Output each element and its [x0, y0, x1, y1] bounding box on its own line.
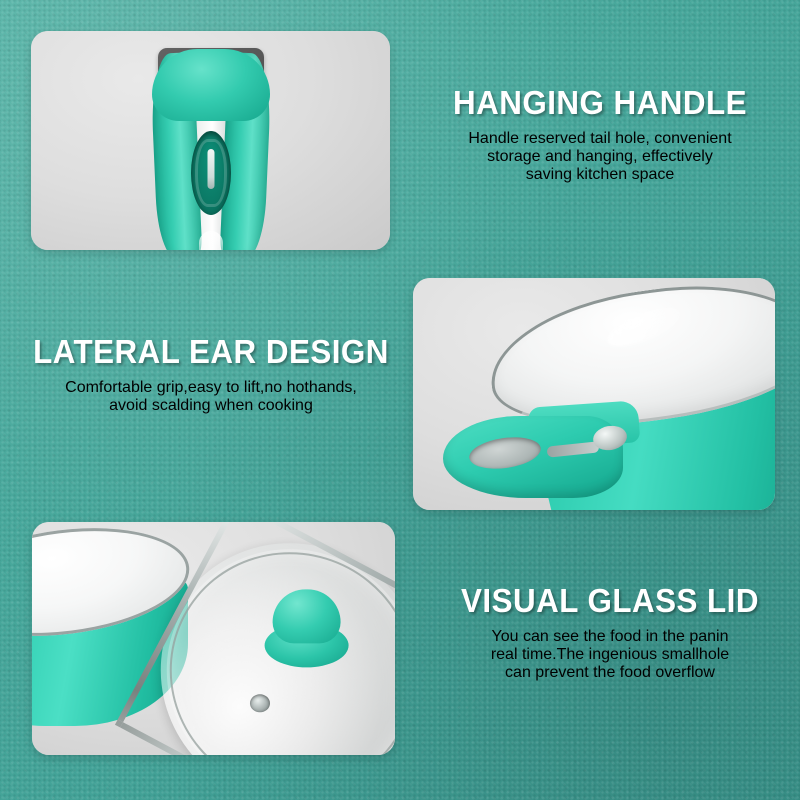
feature-text-lateral-ear-design: LATERAL EAR DESIGN Comfortable grip,easy… [18, 335, 404, 431]
handle-body [154, 53, 268, 250]
handle-cap [152, 49, 270, 121]
feature-title: HANGING HANDLE [429, 86, 771, 121]
feature-text-visual-glass-lid: VISUAL GLASS LID You can see the food in… [432, 584, 788, 698]
photo-panel-lateral-ear [413, 278, 775, 510]
feature-description-line: saving kitchen space [420, 166, 780, 184]
lateral-ear-handle [443, 402, 653, 498]
feature-description-line: Comfortable grip,easy to lift,no hothand… [18, 379, 404, 397]
photo-panel-glass-lid [32, 522, 395, 755]
tail-hole [191, 131, 231, 215]
feature-description-line: Handle reserved tail hole, convenient [420, 130, 780, 148]
pot-with-ear-handle [485, 290, 775, 510]
feature-description-line: avoid scalding when cooking [18, 397, 404, 415]
lid-steam-vent-hole [250, 694, 270, 712]
feature-description-line: real time.The ingenious smallhole [432, 646, 788, 664]
feature-text-hanging-handle: HANGING HANDLE Handle reserved tail hole… [420, 86, 780, 200]
feature-description-line: You can see the food in the panin [432, 628, 788, 646]
infographic-canvas: HANGING HANDLE Handle reserved tail hole… [0, 0, 800, 800]
feature-description-line: storage and hanging, effectively [420, 148, 780, 166]
hook-peg [207, 149, 214, 189]
feature-title: VISUAL GLASS LID [441, 584, 779, 619]
lid-knob-top [273, 589, 341, 643]
handle-highlight [199, 231, 223, 250]
lid-knob [265, 589, 349, 667]
feature-title: LATERAL EAR DESIGN [28, 335, 395, 370]
photo-panel-hanging-handle [31, 31, 390, 250]
feature-description-line: can prevent the food overflow [432, 664, 788, 682]
